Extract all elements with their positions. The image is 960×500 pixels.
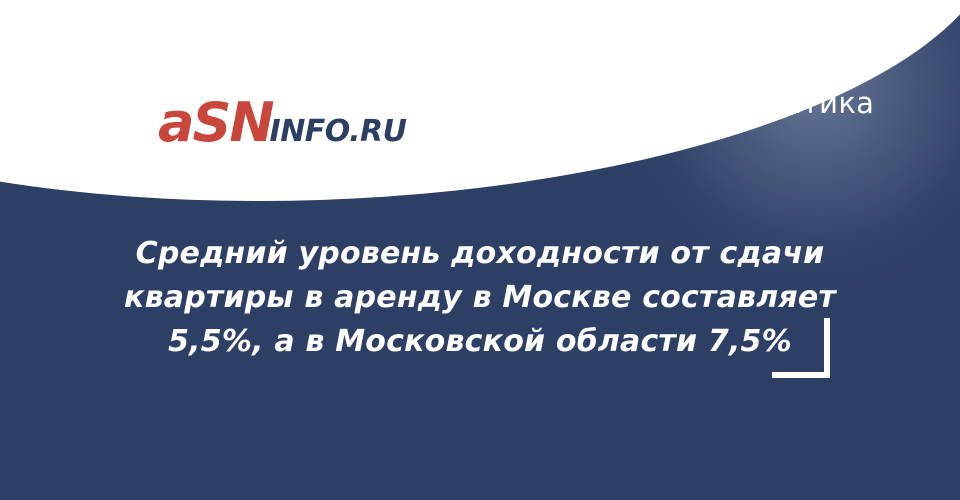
brand-logo[interactable]: aSN INFO.RU — [158, 96, 407, 150]
corner-bracket-vertical-bar — [824, 318, 830, 378]
logo-asn-text: aSN — [158, 96, 273, 150]
headline-line-3: 5,5%, а в Московской области 7,5% — [70, 320, 890, 364]
infographic-card: aSN INFO.RU #аналитика Средний уровень д… — [0, 0, 960, 500]
headline-line-1: Средний уровень доходности от сдачи — [70, 232, 890, 276]
corner-bracket-horizontal-bar — [772, 372, 830, 378]
corner-bracket-decoration — [772, 318, 830, 378]
hashtag-label: #аналитика — [684, 86, 874, 120]
headline-line-2: квартиры в аренду в Москве составляет — [70, 276, 890, 320]
logo-info-text: INFO.RU — [270, 117, 407, 147]
